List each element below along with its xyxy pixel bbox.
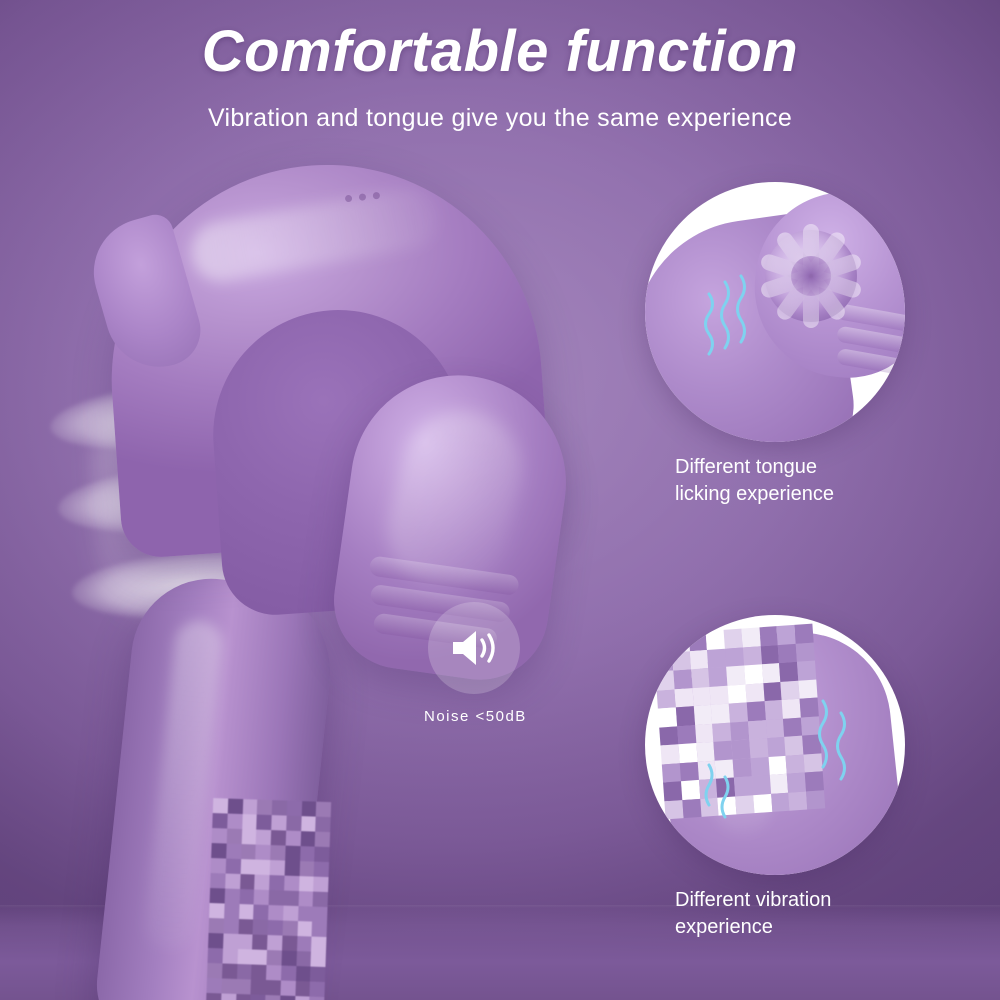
detail-vibration-image	[645, 615, 905, 875]
detail-tongue-caption: Different tongue licking experience	[675, 454, 935, 508]
caption-line: Different tongue	[675, 454, 935, 481]
detail-tongue-image	[645, 182, 905, 442]
mosaic-censor-block	[203, 798, 331, 1000]
noise-label: Noise <50dB	[424, 708, 524, 725]
page-title: Comfortable function	[0, 18, 1000, 85]
product-illustration	[40, 150, 570, 940]
vibration-wave-icon	[645, 182, 905, 442]
noise-badge: Noise <50dB	[424, 602, 524, 725]
promo-image: Comfortable function Vibration and tongu…	[0, 0, 1000, 1000]
detail-tongue: Different tongue licking experience	[645, 182, 905, 442]
caption-line: experience	[675, 914, 935, 941]
caption-line: licking experience	[675, 481, 935, 508]
detail-vibration-caption: Different vibration experience	[675, 887, 935, 941]
speaker-icon	[428, 602, 520, 694]
caption-line: Different vibration	[675, 887, 935, 914]
detail-vibration: Different vibration experience	[645, 615, 905, 875]
page-subtitle: Vibration and tongue give you the same e…	[0, 104, 1000, 133]
vibration-wave-icon	[645, 615, 905, 875]
